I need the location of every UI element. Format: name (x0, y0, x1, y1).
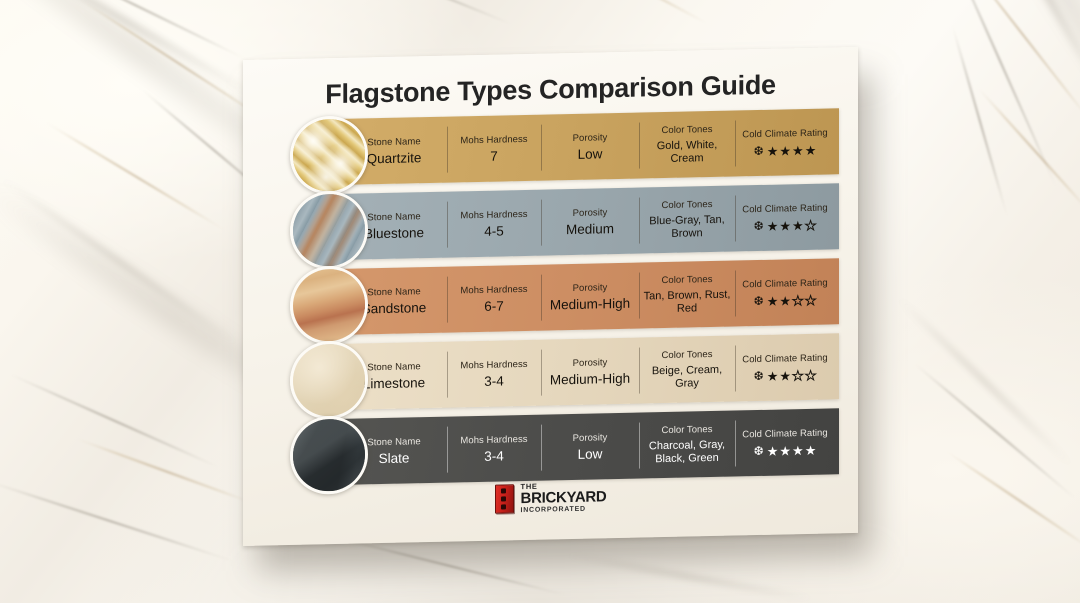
column-label: Stone Name (367, 361, 420, 374)
cell-value: 6-7 (484, 299, 504, 313)
logo-line-brickyard: BRICKYARD (521, 489, 607, 506)
star-filled-icon: ★ (779, 294, 791, 307)
cell-value: Blue-Gray, Tan, Brown (639, 214, 735, 241)
cell-mohs-hardness: Mohs Hardness 6-7 (447, 276, 541, 322)
star-filled-icon: ★ (779, 444, 791, 457)
row-cells: Stone Name Sandstone Mohs Hardness 6-7 P… (341, 258, 839, 335)
star-filled-icon: ★ (805, 443, 817, 456)
logo-line-incorporated: INCORPORATED (521, 505, 607, 514)
snowflake-icon: ❆ (754, 444, 764, 457)
snowflake-icon: ❆ (754, 144, 764, 157)
limestone-thumbnail (290, 340, 368, 420)
table-row[interactable]: Stone Name Limestone Mohs Hardness 3-4 P… (290, 333, 839, 411)
star-filled-icon: ★ (767, 369, 779, 382)
snowflake-icon: ❆ (754, 219, 764, 232)
cell-porosity: Porosity Low (541, 424, 639, 470)
column-label: Cold Climate Rating (742, 127, 827, 141)
cell-value: Tan, Brown, Rust, Red (639, 289, 735, 316)
cell-mohs-hardness: Mohs Hardness 4-5 (447, 201, 541, 247)
cell-color-tones: Color Tones Beige, Cream, Gray (639, 347, 735, 393)
brick-icon (495, 484, 514, 513)
table-row[interactable]: Stone Name Quartzite Mohs Hardness 7 Por… (290, 108, 839, 186)
cell-value: Medium-High (550, 296, 630, 312)
table-row[interactable]: Stone Name Bluestone Mohs Hardness 4-5 P… (290, 183, 839, 261)
cell-mohs-hardness: Mohs Hardness 7 (447, 126, 541, 172)
rating-stars: ❆ ★★★★ (754, 443, 817, 457)
column-label: Porosity (573, 282, 608, 295)
star-filled-icon: ★ (779, 369, 791, 382)
column-label: Mohs Hardness (460, 133, 527, 146)
column-label: Cold Climate Rating (742, 427, 827, 441)
star-empty-icon: ★ (805, 293, 817, 306)
column-label: Stone Name (367, 436, 420, 449)
cell-cold-climate-rating: Cold Climate Rating ❆ ★★★★ (735, 419, 835, 465)
cell-mohs-hardness: Mohs Hardness 3-4 (447, 351, 541, 397)
cell-porosity: Porosity Medium-High (541, 274, 639, 320)
cell-value: Low (578, 147, 603, 162)
star-filled-icon: ★ (792, 444, 804, 457)
star-filled-icon: ★ (779, 144, 791, 157)
comparison-table: Stone Name Quartzite Mohs Hardness 7 Por… (290, 108, 839, 495)
cell-value: 3-4 (484, 374, 504, 388)
star-empty-icon: ★ (805, 368, 817, 381)
column-label: Color Tones (661, 424, 712, 437)
rating-stars: ❆ ★★★★ (754, 368, 817, 382)
cell-color-tones: Color Tones Tan, Brown, Rust, Red (639, 272, 735, 318)
cell-cold-climate-rating: Cold Climate Rating ❆ ★★★★ (735, 344, 835, 390)
cell-value: Charcoal, Gray, Black, Green (639, 439, 735, 466)
column-label: Color Tones (661, 124, 712, 137)
star-empty-icon: ★ (792, 294, 804, 307)
row-cells: Stone Name Slate Mohs Hardness 3-4 Poros… (341, 408, 839, 485)
cell-value: Slate (379, 451, 410, 466)
snowflake-icon: ❆ (754, 294, 764, 307)
column-label: Mohs Hardness (460, 208, 527, 221)
cell-value: Bluestone (364, 226, 424, 241)
cell-porosity: Porosity Medium (541, 199, 639, 245)
column-label: Color Tones (661, 199, 712, 212)
cell-value: 3-4 (484, 449, 504, 463)
cell-value: Low (578, 447, 603, 462)
column-label: Porosity (573, 432, 608, 445)
column-label: Mohs Hardness (460, 358, 527, 371)
star-filled-icon: ★ (805, 143, 817, 156)
column-label: Porosity (573, 207, 608, 220)
star-filled-icon: ★ (779, 219, 791, 232)
star-filled-icon: ★ (767, 294, 779, 307)
cell-value: Medium (566, 222, 614, 237)
star-empty-icon: ★ (805, 218, 817, 231)
cell-value: 4-5 (484, 224, 504, 238)
column-label: Color Tones (661, 274, 712, 287)
cell-porosity: Porosity Medium-High (541, 349, 639, 395)
cell-value: Beige, Cream, Gray (639, 364, 735, 391)
cell-value: 7 (490, 149, 498, 163)
column-label: Color Tones (661, 349, 712, 362)
column-label: Cold Climate Rating (742, 352, 827, 366)
page-title: Flagstone Types Comparison Guide (243, 68, 858, 112)
rating-stars: ❆ ★★★★ (754, 218, 817, 232)
cell-mohs-hardness: Mohs Hardness 3-4 (447, 426, 541, 472)
cell-value: Limestone (363, 376, 425, 391)
quartzite-thumbnail (290, 115, 368, 195)
cell-color-tones: Color Tones Gold, White, Cream (639, 122, 735, 168)
cell-porosity: Porosity Low (541, 124, 639, 170)
star-filled-icon: ★ (767, 444, 779, 457)
star-filled-icon: ★ (767, 144, 779, 157)
cell-color-tones: Color Tones Charcoal, Gray, Black, Green (639, 422, 735, 468)
column-label: Stone Name (367, 211, 420, 224)
rating-stars: ❆ ★★★★ (754, 293, 817, 307)
column-label: Mohs Hardness (460, 433, 527, 446)
column-label: Porosity (573, 357, 608, 370)
column-label: Stone Name (367, 286, 420, 299)
cell-value: Quartzite (367, 151, 422, 166)
cell-cold-climate-rating: Cold Climate Rating ❆ ★★★★ (735, 269, 835, 315)
star-filled-icon: ★ (792, 219, 804, 232)
column-label: Stone Name (367, 136, 420, 149)
bluestone-thumbnail (290, 190, 368, 270)
star-filled-icon: ★ (767, 219, 779, 232)
column-label: Cold Climate Rating (742, 202, 827, 216)
row-cells: Stone Name Limestone Mohs Hardness 3-4 P… (341, 333, 839, 410)
cell-color-tones: Color Tones Blue-Gray, Tan, Brown (639, 197, 735, 243)
rating-stars: ❆ ★★★★ (754, 143, 817, 157)
column-label: Cold Climate Rating (742, 277, 827, 291)
star-filled-icon: ★ (792, 144, 804, 157)
slate-thumbnail (290, 415, 368, 495)
star-empty-icon: ★ (792, 369, 804, 382)
table-row[interactable]: Stone Name Sandstone Mohs Hardness 6-7 P… (290, 258, 839, 336)
row-cells: Stone Name Quartzite Mohs Hardness 7 Por… (341, 108, 839, 185)
sandstone-thumbnail (290, 265, 368, 345)
infographic-card: Flagstone Types Comparison Guide Stone N… (243, 47, 858, 546)
column-label: Mohs Hardness (460, 283, 527, 296)
snowflake-icon: ❆ (754, 369, 764, 382)
row-cells: Stone Name Bluestone Mohs Hardness 4-5 P… (341, 183, 839, 260)
table-row[interactable]: Stone Name Slate Mohs Hardness 3-4 Poros… (290, 408, 839, 486)
cell-cold-climate-rating: Cold Climate Rating ❆ ★★★★ (735, 119, 835, 165)
cell-value: Sandstone (362, 301, 427, 316)
cell-cold-climate-rating: Cold Climate Rating ❆ ★★★★ (735, 194, 835, 240)
cell-value: Gold, White, Cream (639, 139, 735, 166)
cell-value: Medium-High (550, 371, 630, 387)
column-label: Porosity (573, 132, 608, 145)
